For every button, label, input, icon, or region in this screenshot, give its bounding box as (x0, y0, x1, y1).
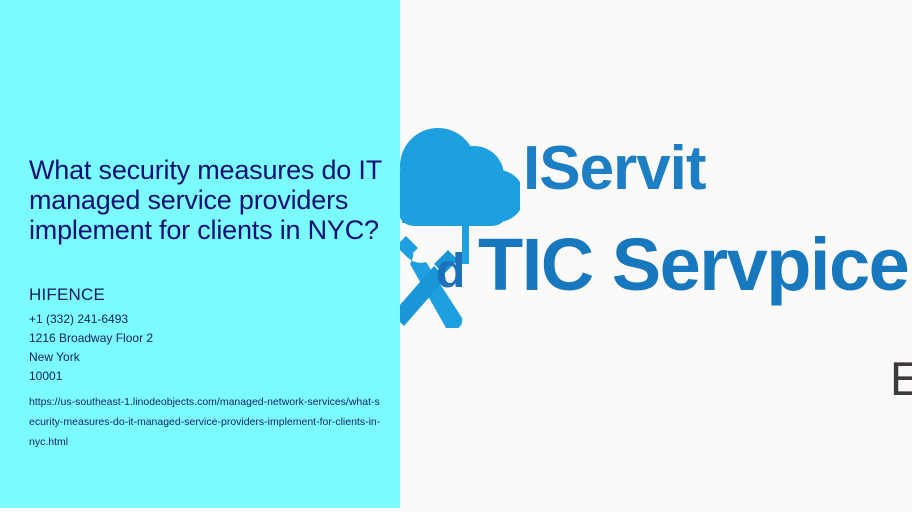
contact-phone: +1 (332) 241-6493 (29, 310, 389, 329)
logo-wordmark-top: IServit (523, 138, 706, 200)
contact-postal-code: 10001 (29, 367, 389, 386)
company-logo: d IServit TIC Servpice (400, 118, 912, 348)
logo-artifact-glyph: d (436, 248, 465, 296)
logo-tagline: Enics Sertity (890, 355, 912, 402)
contact-street: 1216 Broadway Floor 2 (29, 329, 389, 348)
bottom-edge-strip (0, 508, 912, 512)
logo-panel: d IServit TIC Servpice Enics Sertity (400, 0, 912, 512)
contact-details: +1 (332) 241-6493 1216 Broadway Floor 2 … (29, 310, 389, 386)
content-panel: What security measures do IT managed ser… (0, 0, 400, 508)
screenshot-canvas: d IServit TIC Servpice Enics Sertity Wha… (0, 0, 912, 512)
source-url: https://us-southeast-1.linodeobjects.com… (29, 392, 381, 452)
contact-city: New York (29, 348, 389, 367)
page-title: What security measures do IT managed ser… (29, 155, 397, 245)
organization-name: HIFENCE (29, 286, 105, 303)
logo-wordmark-bottom: TIC Servpice (478, 228, 908, 302)
